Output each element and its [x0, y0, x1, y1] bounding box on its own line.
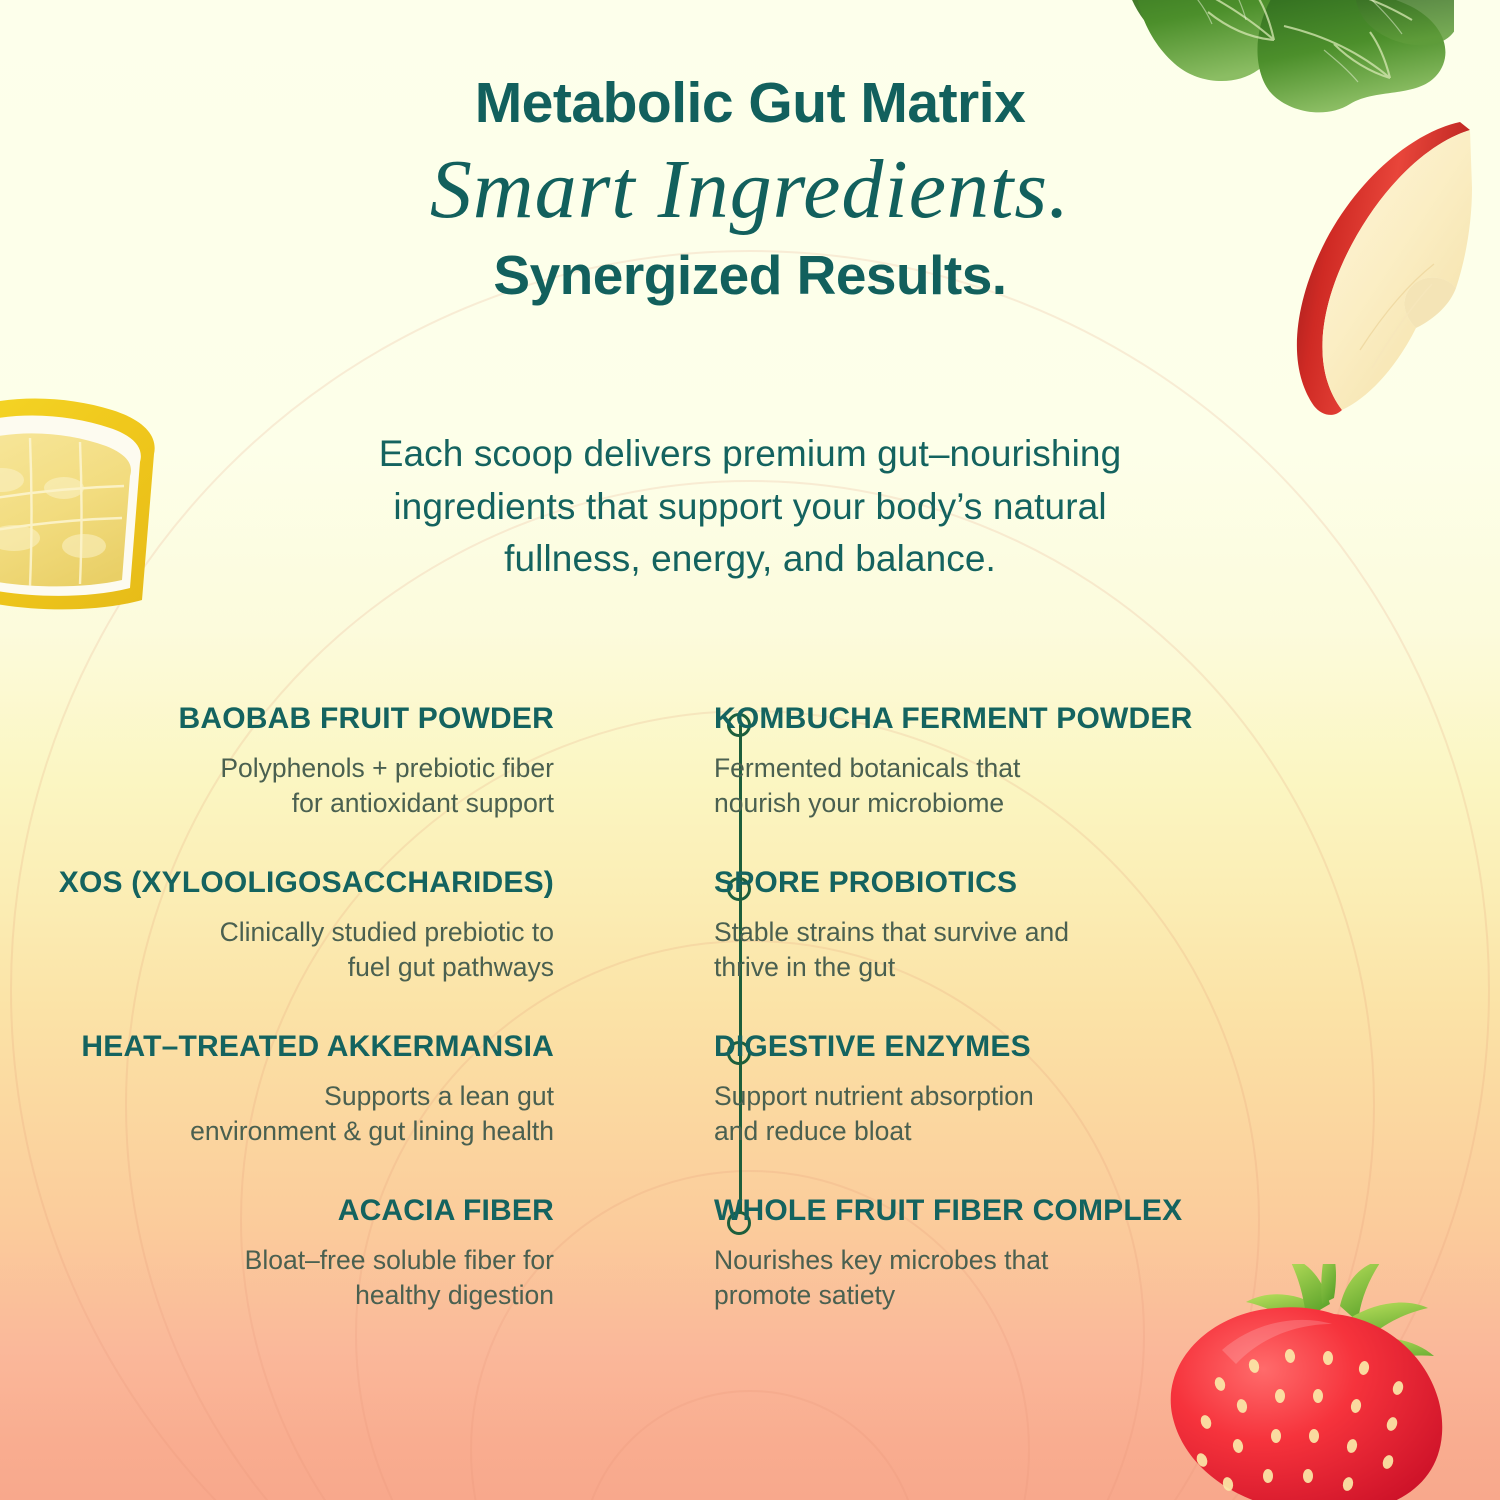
ingredient-desc-line-2: environment & gut lining health — [0, 1114, 554, 1149]
ingredient-description: Bloat–free soluble fiber for healthy dig… — [0, 1243, 554, 1313]
header-block: Metabolic Gut Matrix Smart Ingredients. … — [0, 0, 1500, 304]
ingredient-title: BAOBAB FRUIT POWDER — [0, 702, 554, 735]
ingredient-desc-line-1: Bloat–free soluble fiber for — [0, 1243, 554, 1278]
ingredient-description: Supports a lean gut environment & gut li… — [0, 1079, 554, 1149]
ingredient-desc-line-2: nourish your microbiome — [714, 786, 1288, 821]
ingredient-title: KOMBUCHA FERMENT POWDER — [714, 702, 1288, 735]
subheading-line-2: ingredients that support your body’s nat… — [0, 481, 1500, 534]
ingredient-desc-line-1: Stable strains that survive and — [714, 915, 1288, 950]
ingredient-desc-line-1: Supports a lean gut — [0, 1079, 554, 1114]
headline-script: Smart Ingredients. — [0, 139, 1500, 241]
ingredient-desc-line-2: and reduce bloat — [714, 1114, 1288, 1149]
ingredient-title: DIGESTIVE ENZYMES — [714, 1030, 1288, 1063]
subheading: Each scoop delivers premium gut–nourishi… — [0, 428, 1500, 586]
ingredient-title: WHOLE FRUIT FIBER COMPLEX — [714, 1194, 1288, 1227]
ingredient-title: XOS (XYLOOLIGOSACCHARIDES) — [0, 866, 554, 899]
timeline-spacer — [588, 860, 700, 1024]
ingredient-desc-line-1: Clinically studied prebiotic to — [0, 915, 554, 950]
ingredient-description: Support nutrient absorption and reduce b… — [714, 1079, 1288, 1149]
ingredient-item-acacia-fiber: ACACIA FIBER Bloat–free soluble fiber fo… — [0, 1188, 588, 1352]
ingredient-title: SPORE PROBIOTICS — [714, 866, 1288, 899]
ingredient-grid: BAOBAB FRUIT POWDER Polyphenols + prebio… — [0, 696, 1500, 1352]
ingredient-desc-line-1: Fermented botanicals that — [714, 751, 1288, 786]
subheading-line-1: Each scoop delivers premium gut–nourishi… — [0, 428, 1500, 481]
ingredient-desc-line-1: Nourishes key microbes that — [714, 1243, 1288, 1278]
ingredient-item-digestive-enzymes: DIGESTIVE ENZYMES Support nutrient absor… — [700, 1024, 1288, 1188]
ingredient-item-baobab-fruit-powder: BAOBAB FRUIT POWDER Polyphenols + prebio… — [0, 696, 588, 860]
timeline-spacer — [588, 696, 700, 860]
ingredient-infographic: Metabolic Gut Matrix Smart Ingredients. … — [0, 0, 1500, 1500]
ingredient-description: Nourishes key microbes that promote sati… — [714, 1243, 1288, 1313]
subheading-line-3: fullness, energy, and balance. — [0, 533, 1500, 586]
ingredient-item-heat-treated-akkermansia: HEAT–TREATED AKKERMANSIA Supports a lean… — [0, 1024, 588, 1188]
ingredient-item-whole-fruit-fiber-complex: WHOLE FRUIT FIBER COMPLEX Nourishes key … — [700, 1188, 1288, 1352]
ingredient-desc-line-2: healthy digestion — [0, 1278, 554, 1313]
ingredient-item-spore-probiotics: SPORE PROBIOTICS Stable strains that sur… — [700, 860, 1288, 1024]
ingredient-description: Stable strains that survive and thrive i… — [714, 915, 1288, 985]
ingredient-desc-line-2: for antioxidant support — [0, 786, 554, 821]
ingredient-description: Fermented botanicals that nourish your m… — [714, 751, 1288, 821]
ingredient-title: ACACIA FIBER — [0, 1194, 554, 1227]
ingredient-description: Polyphenols + prebiotic fiber for antiox… — [0, 751, 554, 821]
ingredient-title: HEAT–TREATED AKKERMANSIA — [0, 1030, 554, 1063]
timeline-spacer — [588, 1188, 700, 1352]
ingredient-desc-line-2: fuel gut pathways — [0, 950, 554, 985]
ingredient-item-xos: XOS (XYLOOLIGOSACCHARIDES) Clinically st… — [0, 860, 588, 1024]
ingredient-desc-line-2: promote satiety — [714, 1278, 1288, 1313]
ingredient-desc-line-1: Support nutrient absorption — [714, 1079, 1288, 1114]
product-name: Metabolic Gut Matrix — [0, 74, 1500, 133]
ingredient-item-kombucha-ferment-powder: KOMBUCHA FERMENT POWDER Fermented botani… — [700, 696, 1288, 860]
ingredient-description: Clinically studied prebiotic to fuel gut… — [0, 915, 554, 985]
timeline-spacer — [588, 1024, 700, 1188]
headline-bold: Synergized Results. — [0, 246, 1500, 304]
ingredient-desc-line-1: Polyphenols + prebiotic fiber — [0, 751, 554, 786]
ingredient-desc-line-2: thrive in the gut — [714, 950, 1288, 985]
